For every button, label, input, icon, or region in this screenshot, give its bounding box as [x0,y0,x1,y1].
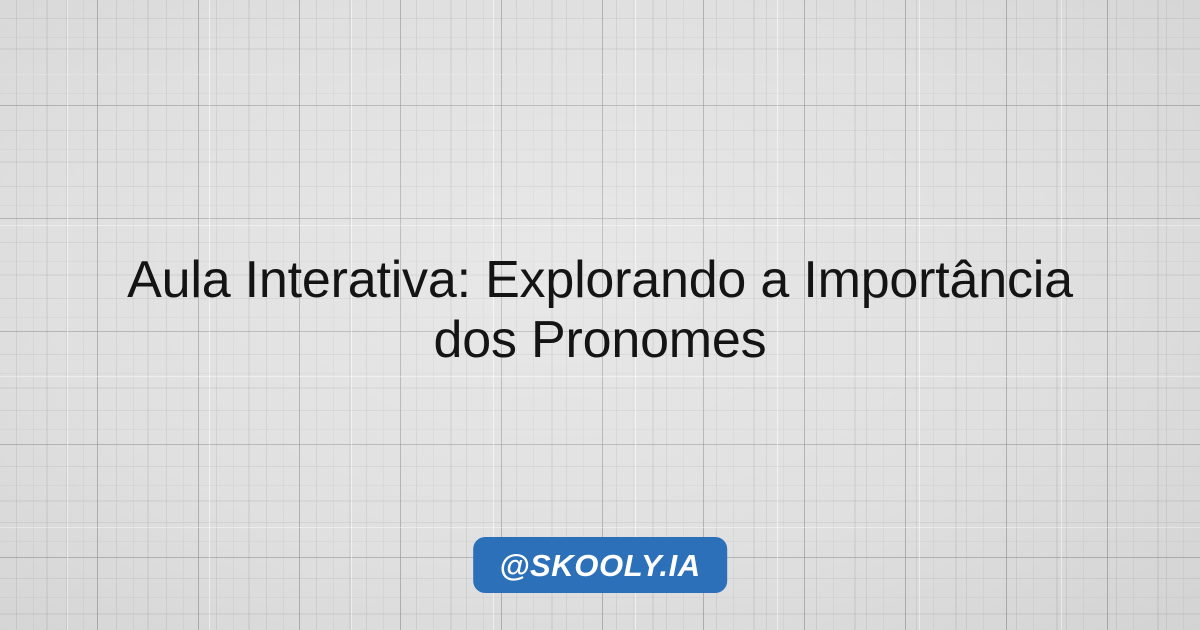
brand-handle-badge: @SKOOLY.IA [473,537,727,593]
page-title: Aula Interativa: Explorando a Importânci… [100,250,1100,370]
card-content: Aula Interativa: Explorando a Importânci… [0,0,1200,630]
brand-handle-label: @SKOOLY.IA [499,550,701,581]
og-card: Aula Interativa: Explorando a Importânci… [0,0,1200,630]
